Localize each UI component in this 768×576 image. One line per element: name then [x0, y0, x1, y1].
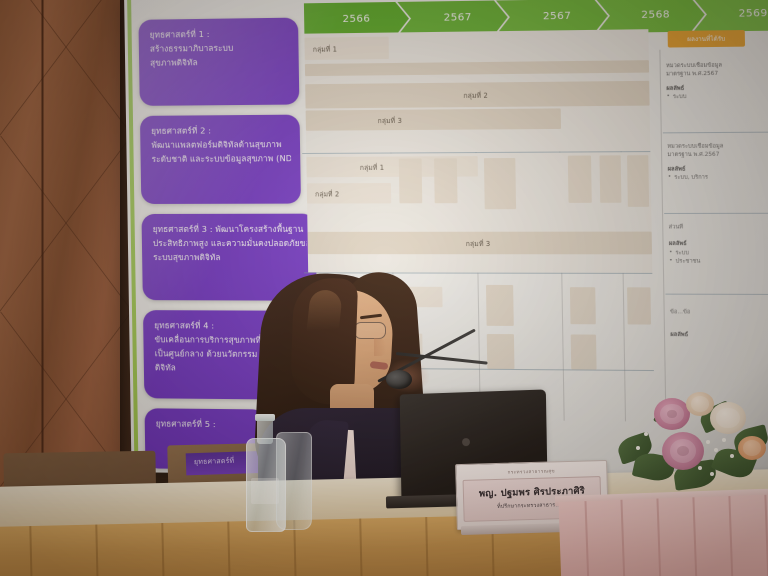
gantt-bar-label: กลุ่มที่ 2 [463, 89, 488, 100]
gantt-bar: กลุ่มที่ 3 [306, 108, 561, 130]
section-3-heading: ส่วนที่ [669, 223, 768, 232]
gantt-block [484, 158, 516, 209]
right-panel-section-4: ข้อ...ข้อ ผลลัพธ์ [670, 308, 768, 340]
rose-pink-2 [662, 432, 704, 470]
gantt-bar: กลุ่มที่ 3 [308, 232, 652, 255]
gantt-block [399, 158, 422, 203]
water-bottle[interactable] [244, 414, 286, 530]
timeline-year-2569: 2569 [693, 0, 768, 32]
gantt-bar-label: กลุ่มที่ 3 [466, 237, 491, 248]
gantt-block [627, 155, 649, 207]
strategy-box-2: ยุทธศาสตร์ที่ 2 : พัฒนาแพลตฟอร์มดิจิทัลด… [140, 115, 301, 204]
gantt-block [568, 155, 592, 202]
strategy-2-line-1: ยุทธศาสตร์ที่ 2 : [151, 123, 291, 138]
rose-peach-1 [738, 436, 766, 460]
right-panel-divider [663, 132, 768, 134]
gantt-bar: กลุ่มที่ 1 [304, 37, 388, 60]
right-panel-section-1: หมวดระบบเชื่อมข้อมูล มาตรฐาน พ.ศ.2567 ผล… [666, 61, 768, 102]
timeline-year-2568: 2568 [596, 0, 705, 33]
timeline-year-2567-a: 2567 [397, 0, 508, 35]
gantt-block [599, 155, 621, 202]
pink-table-skirt [558, 494, 768, 576]
laptop-logo [462, 438, 470, 446]
strategy-2-line-2: พัฒนาแพลตฟอร์มดิจิทัลด้านสุขภาพ [151, 137, 291, 152]
right-panel-divider [664, 213, 768, 214]
section-3-label: ผลลัพธ์ [669, 240, 768, 249]
section-3-bullet-2: ประชาชน [669, 258, 768, 267]
section-2-bullet-1: ระบบ, บริการ [668, 173, 768, 182]
right-panel-divider-vertical [659, 50, 666, 418]
gantt-block [571, 334, 597, 369]
section-3-bullet-1: ระบบ [669, 249, 768, 258]
nose [374, 338, 386, 356]
acoustic-wall-panel-left [0, 0, 133, 520]
wall-panel-seam [41, 0, 44, 520]
gantt-block [570, 287, 596, 324]
strategy-3-line-1: ยุทธศาสตร์ที่ 3 : พัฒนาโครงสร้างพื้นฐาน [153, 222, 307, 236]
timeline-year-2566: 2566 [304, 2, 409, 37]
section-4-heading: ข้อ...ข้อ [670, 308, 768, 317]
bottle-label [251, 478, 279, 504]
right-panel-section-2: หมวดระบบเชื่อมข้อมูล มาตรฐาน พ.ศ.2567 ผล… [667, 142, 768, 182]
gantt-block [434, 158, 458, 203]
strategy-5-line-1: ยุทธศาสตร์ที่ 5 : [156, 416, 257, 431]
wall-diamond-pattern [0, 0, 133, 520]
conference-photo: ...การเชื่อมต่อฐานข้อมูลสุขภาพของประเทศ … [0, 0, 768, 576]
rose-cream-2 [686, 392, 714, 416]
gantt-block [627, 287, 651, 324]
lens-right [354, 322, 386, 339]
right-panel-section-3: ส่วนที่ ผลลัพธ์ ระบบ ประชาชน [669, 223, 768, 266]
gantt-block [486, 285, 514, 326]
section-4-label: ผลลัพธ์ [670, 331, 768, 340]
microphone-head [386, 370, 412, 389]
gantt-bar-label: กลุ่มที่ 1 [360, 161, 384, 172]
section-2-label: ผลลัพธ์ [668, 165, 768, 174]
gantt-bar: กลุ่มที่ 2 [307, 183, 391, 204]
strategy-box-1: ยุทธศาสตร์ที่ 1 : สร้างธรรมาภิบาลระบบ สุ… [138, 18, 299, 106]
strategy-3-line-3: ระบบสุขภาพดิจิทัล [153, 250, 307, 264]
section-1-sub: มาตรฐาน พ.ศ.2567 [666, 70, 768, 80]
right-panel-divider [665, 294, 768, 295]
status-badge: ผลงานที่ได้รับ [668, 30, 745, 48]
slide-right-panel: ผลงานที่ได้รับ หมวดระบบเชื่อมข้อมูล มาตร… [661, 30, 768, 428]
gantt-bar-label: กลุ่มที่ 1 [313, 43, 337, 54]
bottle-cap [255, 414, 275, 421]
section-1-bullet-1: ระบบ [666, 92, 768, 102]
strategy-2-line-3: ระดับชาติ และระบบข้อมูลสุขภาพ (NDHP) [152, 151, 292, 166]
rose-pink-1 [654, 398, 690, 430]
rose-cream-1 [710, 402, 746, 434]
section-2-sub: มาตรฐาน พ.ศ.2567 [667, 151, 768, 160]
flower-bouquet [614, 392, 768, 502]
strategy-3-line-2: ประสิทธิภาพสูง และความมั่นคงปลอดภัยของ [153, 236, 307, 250]
gantt-bar: กลุ่มที่ 2 [305, 81, 649, 109]
strategy-1-line-3: สุขภาพดิจิทัล [150, 54, 290, 70]
gantt-block [487, 334, 515, 369]
gantt-bar-label: กลุ่มที่ 3 [377, 114, 402, 125]
gantt-bar-label: กลุ่มที่ 2 [315, 188, 339, 199]
